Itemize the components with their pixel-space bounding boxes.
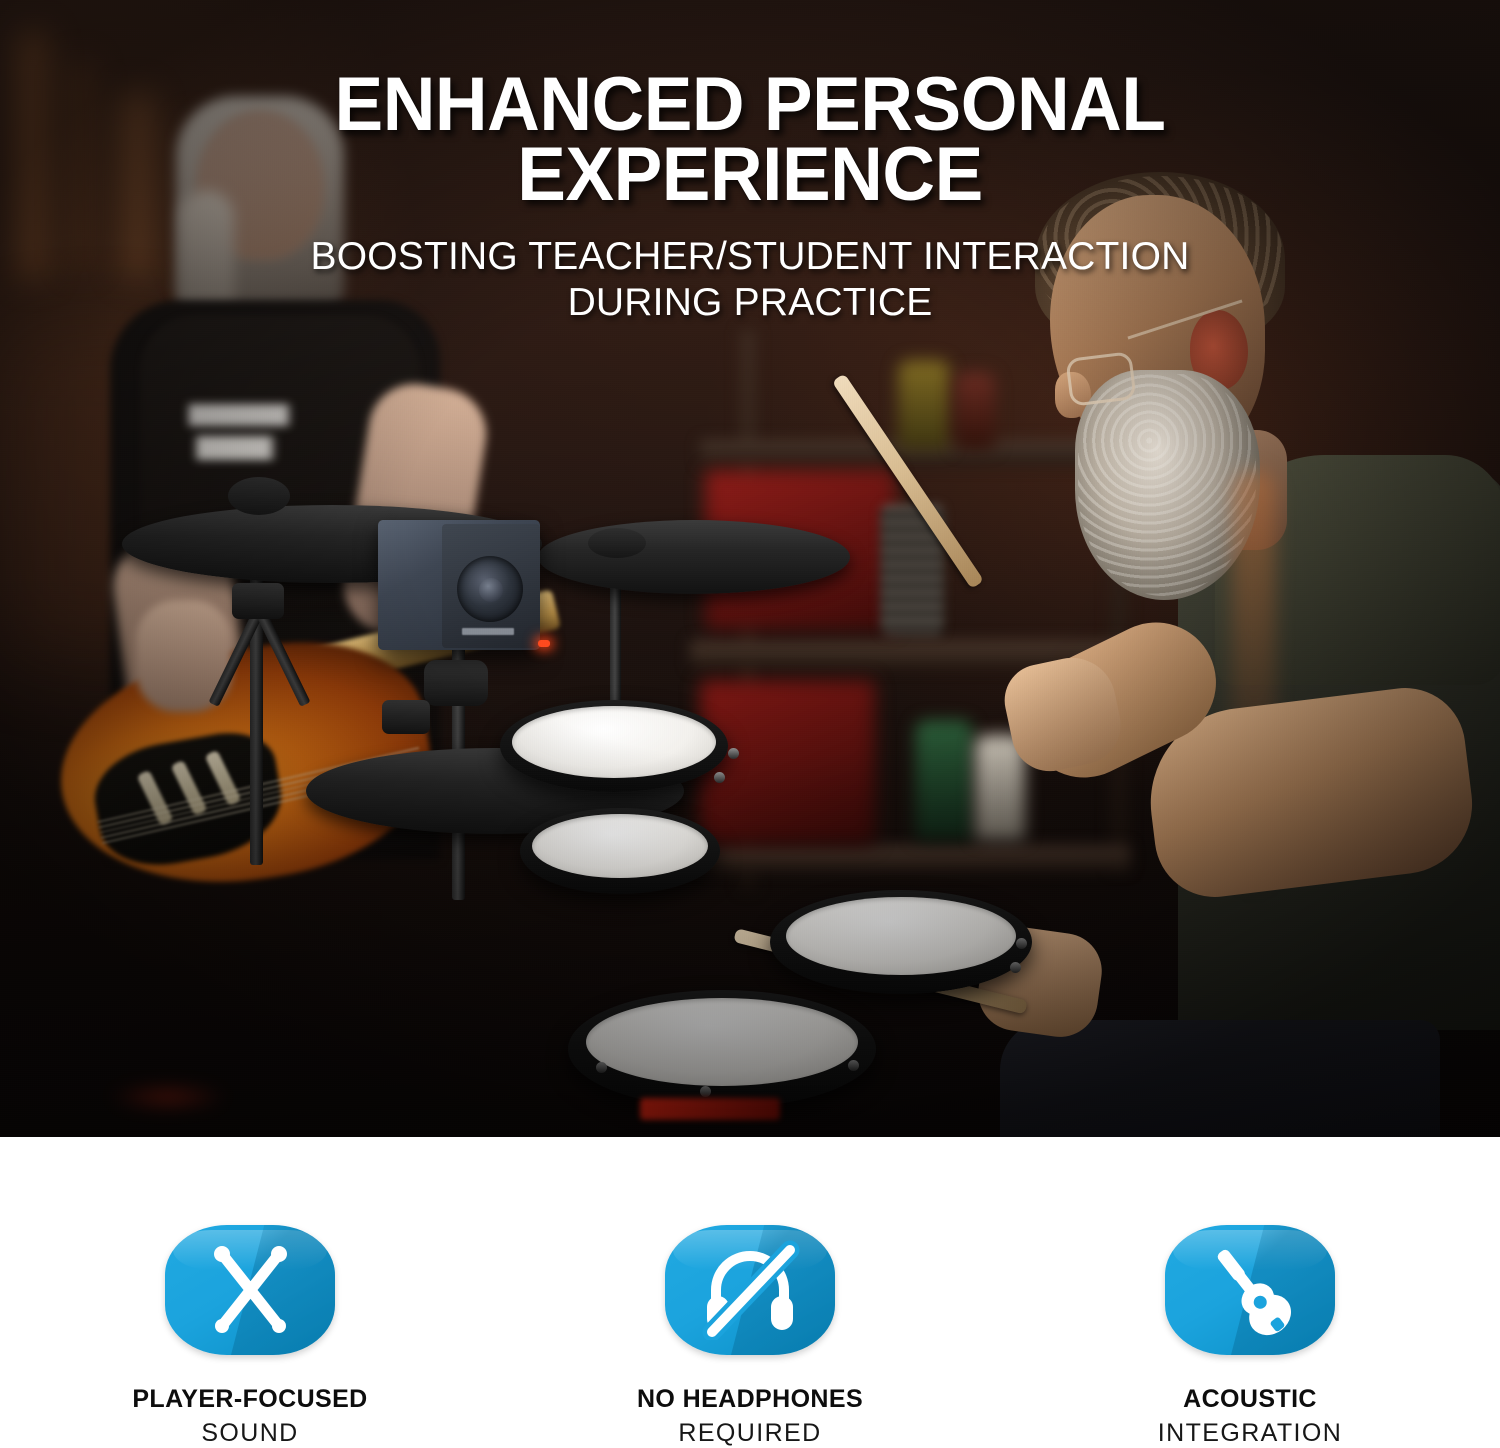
acoustic-guitar-icon bbox=[1165, 1225, 1335, 1355]
feature-label: PLAYER-FOCUSED SOUND bbox=[132, 1385, 367, 1448]
drum-pad-mesh-head bbox=[586, 998, 858, 1086]
feature-item-no-headphones-required: NO HEADPHONES REQUIRED bbox=[500, 1225, 1000, 1448]
drum-lug bbox=[714, 772, 725, 783]
shelf-bottle bbox=[955, 372, 995, 450]
stand-clamp bbox=[232, 583, 284, 619]
feature-highlights-row: PLAYER-FOCUSED SOUND NO HEADPHONES R bbox=[0, 1137, 1500, 1447]
subhead-line-2: DURING PRACTICE bbox=[0, 280, 1500, 326]
feature-badge bbox=[665, 1225, 835, 1355]
feature-label: ACOUSTIC INTEGRATION bbox=[1158, 1385, 1342, 1448]
drum-pad-mesh-head bbox=[512, 706, 716, 778]
guitarist-tshirt-graphic bbox=[180, 398, 350, 468]
hero-text-block: ENHANCED PERSONAL EXPERIENCE BOOSTING TE… bbox=[0, 0, 1500, 326]
cymbal-bell bbox=[588, 528, 646, 558]
drum-lug bbox=[848, 1060, 859, 1071]
drummer-eyeglasses-lens bbox=[1065, 351, 1136, 407]
cymbal-bell bbox=[228, 477, 290, 515]
feature-label-line-2: INTEGRATION bbox=[1158, 1419, 1342, 1448]
subhead-line-1: BOOSTING TEACHER/STUDENT INTERACTION bbox=[310, 235, 1189, 278]
speaker-power-led bbox=[538, 640, 550, 647]
red-accent-light bbox=[108, 1082, 228, 1112]
stand-clamp bbox=[424, 660, 488, 706]
feature-item-acoustic-integration: ACOUSTIC INTEGRATION bbox=[1000, 1225, 1500, 1448]
no-headphones-icon bbox=[665, 1225, 835, 1355]
hero-photo-banner: ENHANCED PERSONAL EXPERIENCE BOOSTING TE… bbox=[0, 0, 1500, 1137]
feature-label-line-1: NO HEADPHONES bbox=[637, 1385, 863, 1414]
red-toolbox bbox=[700, 680, 875, 845]
page-title: ENHANCED PERSONAL EXPERIENCE bbox=[30, 70, 1470, 210]
drum-lug bbox=[1010, 962, 1021, 973]
feature-label-line-2: SOUND bbox=[132, 1419, 367, 1448]
feature-label-line-2: REQUIRED bbox=[637, 1419, 863, 1448]
drum-lug bbox=[728, 748, 739, 759]
headline-line-2: EXPERIENCE bbox=[30, 140, 1470, 210]
feature-label: NO HEADPHONES REQUIRED bbox=[637, 1385, 863, 1448]
cymbal-pad bbox=[538, 520, 850, 594]
drum-pad-mesh-head bbox=[786, 897, 1016, 975]
red-accent-light bbox=[640, 1098, 780, 1120]
speaker-brand-logo bbox=[462, 628, 514, 635]
drum-lug bbox=[700, 1086, 711, 1097]
shelf-bottle bbox=[898, 360, 950, 450]
drum-lug bbox=[596, 1062, 607, 1073]
shelf-plank bbox=[700, 845, 1130, 871]
page-subtitle: BOOSTING TEACHER/STUDENT INTERACTION DUR… bbox=[0, 234, 1500, 326]
drummer-lap bbox=[1000, 1020, 1440, 1137]
drum-lug bbox=[1016, 938, 1027, 949]
shelf-bottle bbox=[915, 720, 973, 840]
feature-item-player-focused-sound: PLAYER-FOCUSED SOUND bbox=[0, 1225, 500, 1448]
feature-badge bbox=[1165, 1225, 1335, 1355]
drum-pad-mesh-head bbox=[532, 814, 708, 878]
speaker-dust-cap bbox=[479, 578, 503, 602]
stand-clamp bbox=[382, 700, 430, 734]
feature-badge bbox=[165, 1225, 335, 1355]
feature-label-line-1: PLAYER-FOCUSED bbox=[132, 1385, 367, 1414]
crossed-drumsticks-icon bbox=[165, 1225, 335, 1355]
feature-label-line-1: ACOUSTIC bbox=[1158, 1385, 1342, 1414]
